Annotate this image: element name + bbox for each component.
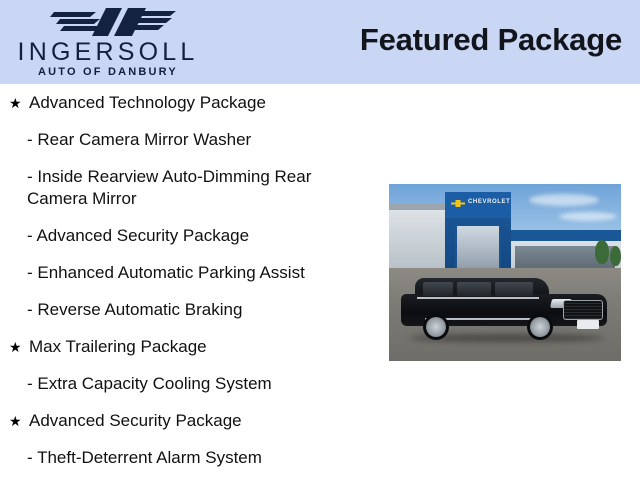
list-item: ★ Advanced Technology Package	[0, 84, 380, 121]
list-item-label: Max Trailering Package	[29, 336, 207, 358]
list-item: - Rear Camera Mirror Washer	[0, 121, 380, 158]
star-bullet-icon: ★	[9, 336, 29, 358]
star-bullet-icon: ★	[9, 410, 29, 432]
suv-wheel	[527, 314, 553, 340]
suv-window	[457, 282, 491, 296]
dealership-sign-panel	[445, 192, 511, 218]
suv-vehicle	[401, 276, 607, 338]
list-item-label: - Rear Camera Mirror Washer	[27, 129, 370, 151]
list-item: - Advanced Security Package	[0, 217, 380, 254]
vehicle-photo: CHEVROLET	[389, 184, 621, 361]
list-item: - Reverse Automatic Braking	[0, 291, 380, 328]
dealership-sign-text: CHEVROLET	[468, 199, 510, 205]
brand-logo: INGERSOLL AUTO OF DANBURY	[8, 2, 208, 82]
list-item-label: - Advanced Security Package	[27, 225, 370, 247]
tree	[610, 246, 621, 266]
list-item: - Theft-Deterrent Alarm System	[0, 439, 380, 476]
list-item: ★ Advanced Security Package	[0, 402, 380, 439]
list-item-label: Advanced Technology Package	[29, 92, 266, 114]
list-item-label: - Theft-Deterrent Alarm System	[27, 447, 370, 469]
list-item: ★ Max Trailering Package	[0, 328, 380, 365]
suv-beltline-trim	[417, 297, 539, 299]
list-item-label: - Reverse Automatic Braking	[27, 299, 370, 321]
suv-window	[423, 282, 453, 296]
feature-list: ★ Advanced Technology Package - Rear Cam…	[0, 84, 380, 476]
photo-scene: CHEVROLET	[389, 184, 621, 361]
suv-wheel	[423, 314, 449, 340]
list-item-label: - Inside Rearview Auto-Dimming Rear Came…	[27, 166, 370, 210]
list-item: - Inside Rearview Auto-Dimming Rear Came…	[0, 158, 380, 217]
list-item-label: Advanced Security Package	[29, 410, 242, 432]
suv-grille	[563, 300, 603, 320]
cloud	[559, 212, 617, 221]
header-band: INGERSOLL AUTO OF DANBURY Featured Packa…	[0, 0, 640, 84]
dealership-entry-glass	[455, 224, 501, 274]
page-title: Featured Package	[360, 22, 622, 58]
list-item-label: - Extra Capacity Cooling System	[27, 373, 370, 395]
list-item: - Extra Capacity Cooling System	[0, 365, 380, 402]
suv-license-plate	[577, 320, 599, 329]
brand-wordmark: INGERSOLL	[8, 38, 208, 66]
star-bullet-icon: ★	[9, 92, 29, 114]
tree	[595, 240, 609, 264]
list-item-label: - Enhanced Automatic Parking Assist	[27, 262, 370, 284]
list-item: - Enhanced Automatic Parking Assist	[0, 254, 380, 291]
ingersoll-wing-emblem-icon	[50, 6, 178, 38]
cloud	[529, 194, 599, 206]
brand-tagline: AUTO OF DANBURY	[8, 66, 208, 79]
right-building-band	[509, 230, 621, 241]
suv-window	[495, 282, 533, 296]
